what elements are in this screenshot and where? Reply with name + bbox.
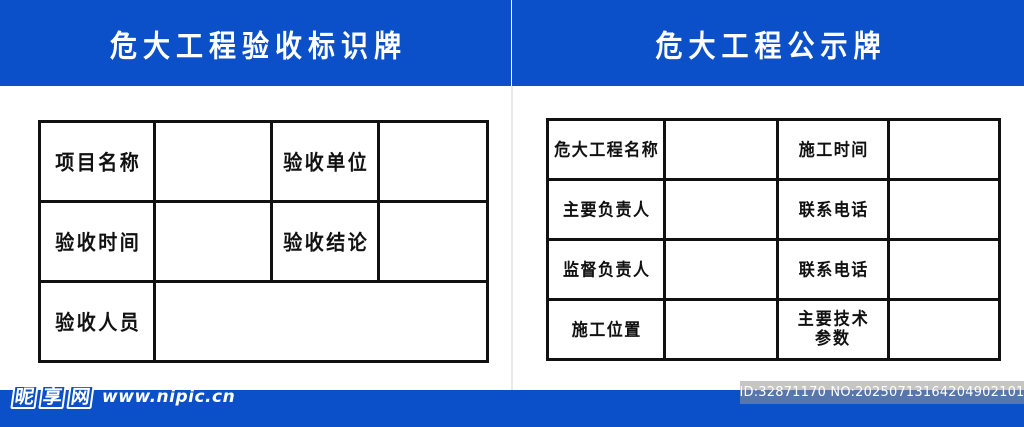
table-row: 验收人员 (40, 282, 488, 362)
nipic-logo-icon: 昵 享 网 (12, 385, 93, 409)
acceptance-board-header: 危大工程验收标识牌 (0, 0, 511, 86)
cell-label-text: 联系电话 (797, 200, 869, 220)
table-cell-label: 危大工程名称 (548, 120, 665, 180)
logo-char-2: 享 (38, 385, 66, 409)
table-cell-label: 验收结论 (272, 202, 379, 282)
table-cell-value[interactable] (889, 240, 1000, 300)
disclosure-board-header: 危大工程公示牌 (512, 0, 1024, 86)
table-cell-value[interactable] (665, 180, 778, 240)
cell-label-text: 验收结论 (281, 227, 370, 256)
table-cell-label: 验收人员 (40, 282, 155, 362)
cell-label-text: 施工位置 (570, 320, 642, 340)
cell-label-text: 验收人员 (53, 307, 142, 336)
cell-label-text: 主要负责人 (561, 200, 650, 220)
cell-label-text: 监督负责人 (561, 260, 650, 280)
table-cell-value[interactable] (889, 120, 1000, 180)
table-cell-value[interactable] (665, 240, 778, 300)
cell-label-text: 项目名称 (53, 147, 142, 176)
cell-label-text: 施工时间 (797, 140, 869, 160)
logo-char-1: 昵 (10, 385, 38, 409)
table-cell-label: 监督负责人 (548, 240, 665, 300)
disclosure-board-title: 危大工程公示牌 (650, 21, 887, 65)
table-cell-value-wide[interactable] (155, 282, 488, 362)
table-cell-label: 施工时间 (778, 120, 889, 180)
table-cell-label: 主要负责人 (548, 180, 665, 240)
cell-label-text: 联系电话 (797, 260, 869, 280)
table-cell-label: 验收单位 (272, 122, 379, 202)
table-row: 监督负责人 联系电话 (548, 240, 1000, 300)
table-cell-label: 施工位置 (548, 300, 665, 360)
board-divider (511, 86, 513, 390)
table-cell-label: 联系电话 (778, 180, 889, 240)
table-row: 项目名称 验收单位 (40, 122, 488, 202)
cell-label-text: 验收单位 (281, 147, 370, 176)
table-cell-label: 项目名称 (40, 122, 155, 202)
site-url: www.nipic.cn (102, 387, 235, 407)
table-cell-value[interactable] (379, 202, 488, 282)
acceptance-board-title: 危大工程验收标识牌 (104, 21, 407, 65)
table-cell-value[interactable] (665, 300, 778, 360)
cell-label-text: 危大工程名称 (553, 140, 660, 160)
cell-label-text: 验收时间 (53, 227, 142, 256)
table-cell-label: 验收时间 (40, 202, 155, 282)
table-row: 危大工程名称 施工时间 (548, 120, 1000, 180)
table-cell-label: 主要技术参数 (778, 300, 889, 360)
table-row: 施工位置 主要技术参数 (548, 300, 1000, 360)
header-band: 危大工程验收标识牌 危大工程公示牌 (0, 0, 1024, 86)
table-row: 主要负责人 联系电话 (548, 180, 1000, 240)
site-brand: 昵 享 网 www.nipic.cn (12, 385, 235, 409)
table-cell-value[interactable] (155, 122, 272, 202)
logo-char-3: 网 (66, 385, 94, 409)
table-cell-value[interactable] (665, 120, 778, 180)
signboard-canvas: 危大工程验收标识牌 危大工程公示牌 项目名称 验收单位 验收时间 (0, 0, 1024, 427)
table-cell-value[interactable] (889, 180, 1000, 240)
disclosure-table: 危大工程名称 施工时间 主要负责人 联系电话 (546, 118, 1001, 361)
asset-id-badge: ID:32871170 NO:20250713164204902101 (740, 381, 1024, 404)
asset-id-text: ID:32871170 NO:20250713164204902101 (739, 385, 1024, 400)
table-cell-value[interactable] (155, 202, 272, 282)
acceptance-table: 项目名称 验收单位 验收时间 验收结论 (38, 120, 489, 363)
table-cell-value[interactable] (379, 122, 488, 202)
table-cell-value[interactable] (889, 300, 1000, 360)
table-cell-label: 联系电话 (778, 240, 889, 300)
cell-label-text: 主要技术参数 (795, 310, 871, 350)
table-row: 验收时间 验收结论 (40, 202, 488, 282)
